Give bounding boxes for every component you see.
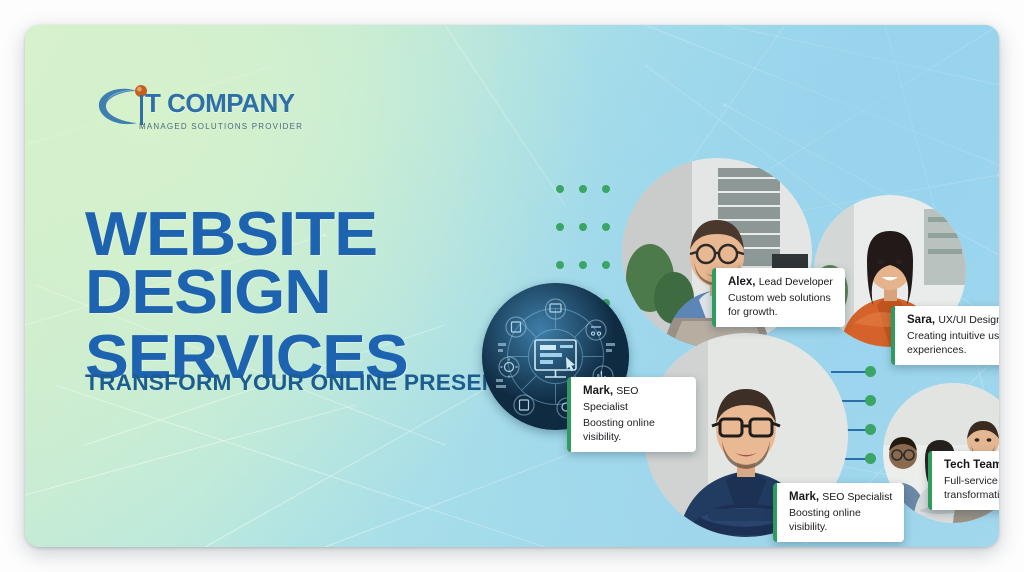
caption-desc-sara: Creating intuitive user experiences. [907,329,999,357]
connector-dot [865,424,876,435]
caption-card-mark-upper[interactable]: Mark, SEO Specialist Boosting online vis… [567,377,696,452]
caption-name-alex: Alex, Lead Developer [728,275,834,291]
caption-card-alex[interactable]: Alex, Lead Developer Custom web solution… [712,268,845,327]
caption-role-alex: Lead Developer [759,276,833,288]
caption-card-sara[interactable]: Sara, UX/UI Designer Creating intuitive … [891,306,999,365]
decorative-dot [579,185,587,193]
connector-dot [865,453,876,464]
decorative-dot [556,261,564,269]
decorative-dot [602,185,610,193]
caption-role-sara: UX/UI Designer [938,314,999,326]
hero-subtitle: TRANSFORM YOUR ONLINE PRESENCE [85,370,530,396]
caption-desc-alex: Custom web solutions for growth. [728,291,834,319]
caption-card-mark-lower[interactable]: Mark, SEO Specialist Boosting online vis… [773,483,904,542]
caption-role-mark-lower: SEO Specialist [822,491,892,503]
banner-screenshot: T COMPANY MANAGED SOLUTIONS PROVIDER WEB… [0,0,1024,572]
caption-card-tech-team[interactable]: Tech Team Full-service digital transform… [928,451,999,510]
caption-name-sara: Sara, UX/UI Designer [907,313,999,329]
caption-desc-mark-lower: Boosting online visibility. [789,506,893,534]
hero-banner: T COMPANY MANAGED SOLUTIONS PROVIDER WEB… [25,25,999,547]
connector-dot [865,366,876,377]
decorative-dot [602,261,610,269]
caption-name-tech-team: Tech Team [944,458,999,474]
decorative-dot [579,223,587,231]
decorative-dot [602,223,610,231]
company-logo[interactable]: T COMPANY MANAGED SOLUTIONS PROVIDER [93,82,308,140]
connector-dot [865,395,876,406]
caption-name-mark-upper: Mark, SEO Specialist [583,384,685,416]
connector-line [831,371,867,373]
caption-desc-mark-upper: Boosting online visibility. [583,416,685,444]
caption-name-mark-lower: Mark, SEO Specialist [789,490,893,506]
decorative-dot [579,261,587,269]
logo-company-name: T COMPANY [145,88,295,119]
caption-desc-tech-team: Full-service digital transformation. [944,474,999,502]
decorative-dot [556,223,564,231]
logo-tagline: MANAGED SOLUTIONS PROVIDER [139,122,303,131]
decorative-dot [556,185,564,193]
